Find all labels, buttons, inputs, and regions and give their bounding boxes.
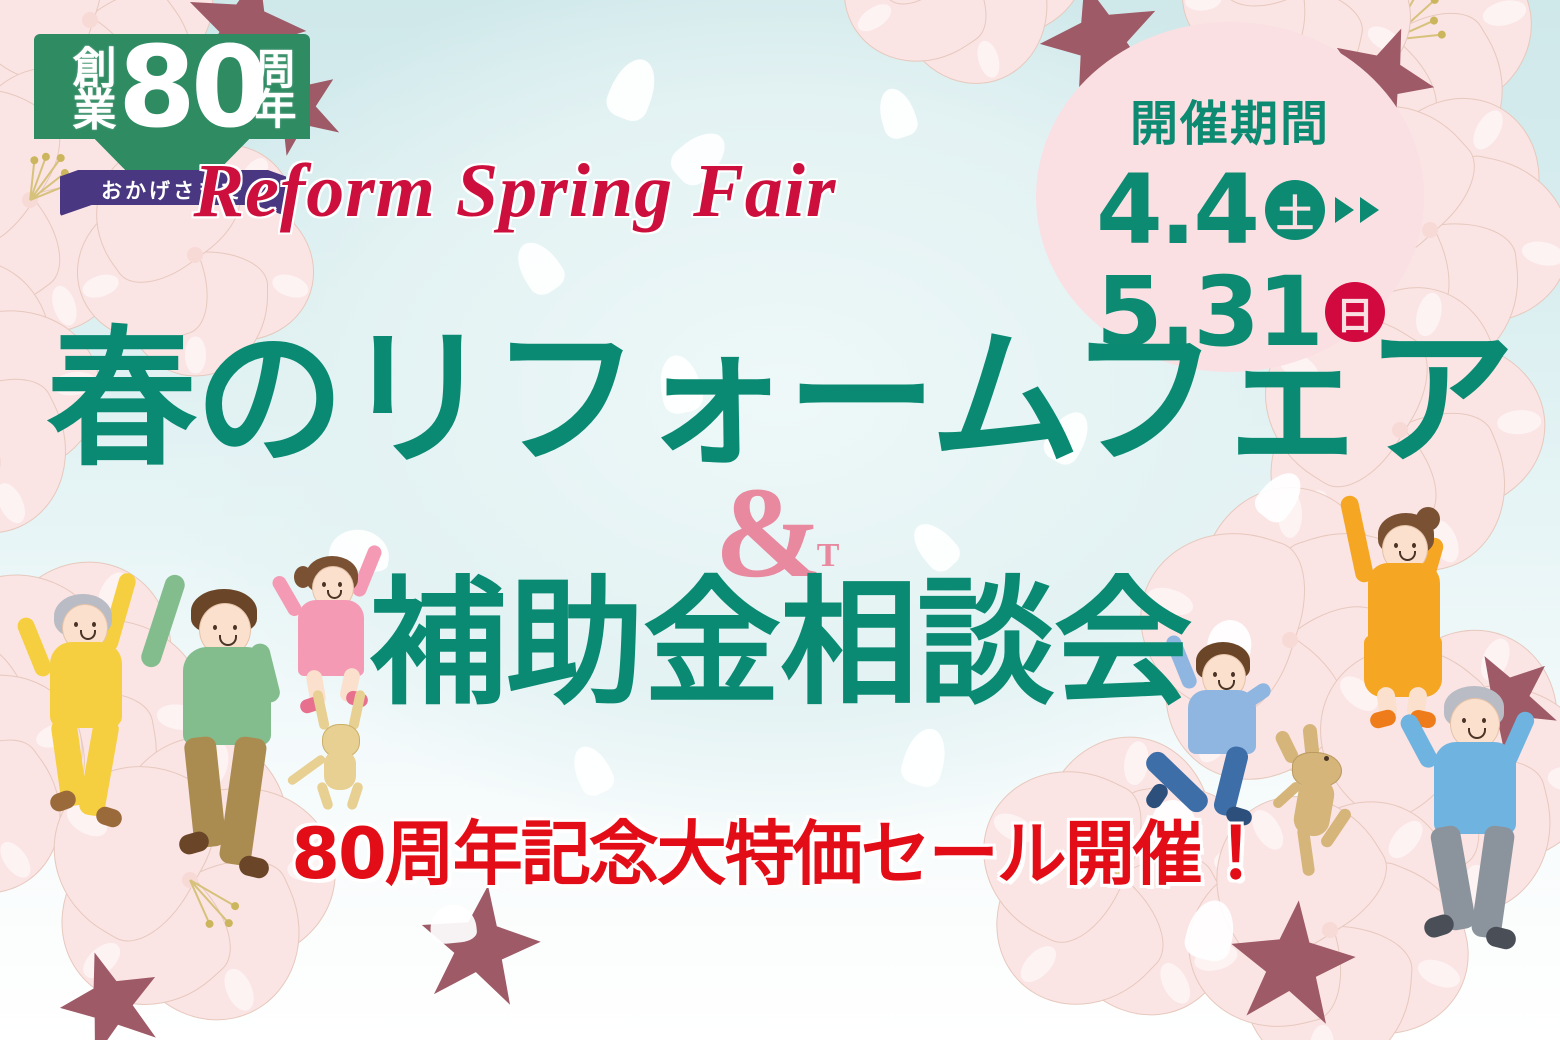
sakura-calyx [47,937,173,1040]
eyebrow-title: Reform Spring Fair [0,148,1030,235]
headline-line-2: 補助金相談会 [0,572,1560,714]
falling-petal [508,234,570,300]
shoe [1484,925,1518,952]
start-date: 4.4 [1096,162,1257,258]
falling-petal [602,52,664,125]
falling-petal [873,84,921,142]
badge-kanji-right: 周年 [250,50,300,131]
event-period-label: 開催期間 [1036,84,1424,154]
falling-petal [566,740,618,800]
cat-body [324,750,356,790]
falling-petal [1181,895,1240,964]
headline-line-1: 春のリフォームフェア [0,322,1560,477]
spring-reform-fair-banner: 創業 80 周年 おかげさまで Reform Spring Fair 開催期間 … [0,0,1560,1040]
falling-petal [898,724,952,791]
badge-number: 80 [118,32,254,144]
sakura-calyx [1224,894,1361,1026]
sale-strip-text: 80周年記念大特価セール開催！ [0,798,1560,899]
event-start-date-row: 4.4 土 [1096,162,1379,258]
double-right-arrow-icon [1335,197,1379,223]
falling-petal [428,903,478,946]
start-weekday-chip: 土 [1265,180,1325,240]
badge-kanji-left: 創業 [68,48,120,132]
main-headline: 春のリフォームフェア [0,322,1560,477]
